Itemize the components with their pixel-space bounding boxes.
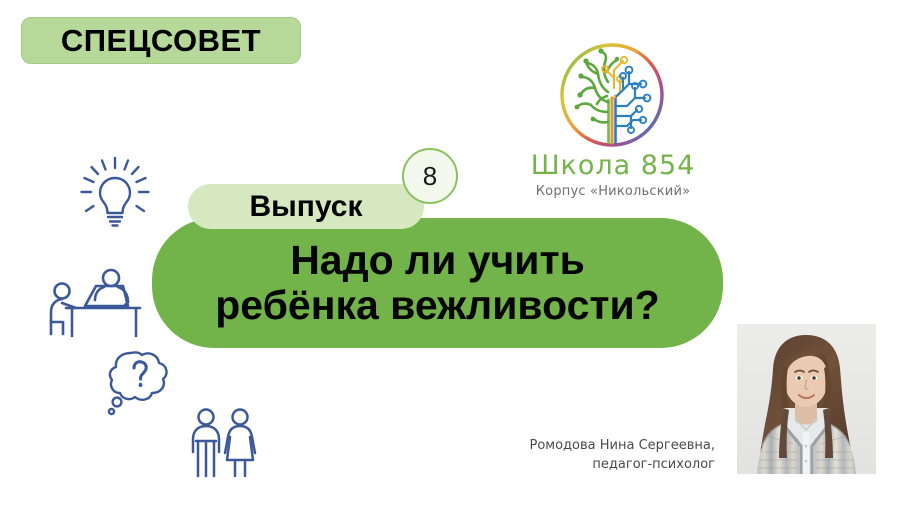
main-title-box: Надо ли учить ребёнка вежливости? (152, 218, 723, 348)
spec-council-badge-label: СПЕЦСОВЕТ (61, 25, 261, 56)
presenter-name: Ромодова Нина Сергеевна, (430, 437, 715, 456)
school-logo-subtitle: Корпус «Никольский» (520, 185, 706, 198)
school-logo-title: Школа 854 (520, 152, 706, 179)
people-at-desk-icon (44, 262, 154, 338)
main-title-line-2: ребёнка вежливости? (215, 283, 659, 328)
issue-number-badge: 8 (402, 148, 458, 204)
school-logo: Школа 854 Корпус «Никольский» (520, 40, 706, 185)
lightbulb-icon (78, 155, 152, 230)
issue-number-value: 8 (423, 163, 437, 189)
main-title-line-1: Надо ли учить (290, 238, 585, 283)
presenter-portrait-photo (737, 324, 876, 474)
issue-pill-label: Выпуск (249, 192, 362, 222)
slide-canvas: СПЕЦСОВЕТ (0, 0, 900, 510)
presenter-role: педагог-психолог (430, 456, 715, 475)
presenter-credit: Ромодова Нина Сергеевна, педагог-психоло… (430, 437, 715, 475)
thought-bubble-question-icon (106, 348, 184, 420)
two-people-icon (185, 408, 261, 480)
school-tree-circuit-emblem-icon (557, 40, 667, 150)
spec-council-badge: СПЕЦСОВЕТ (21, 17, 301, 64)
issue-pill: Выпуск (188, 184, 424, 229)
